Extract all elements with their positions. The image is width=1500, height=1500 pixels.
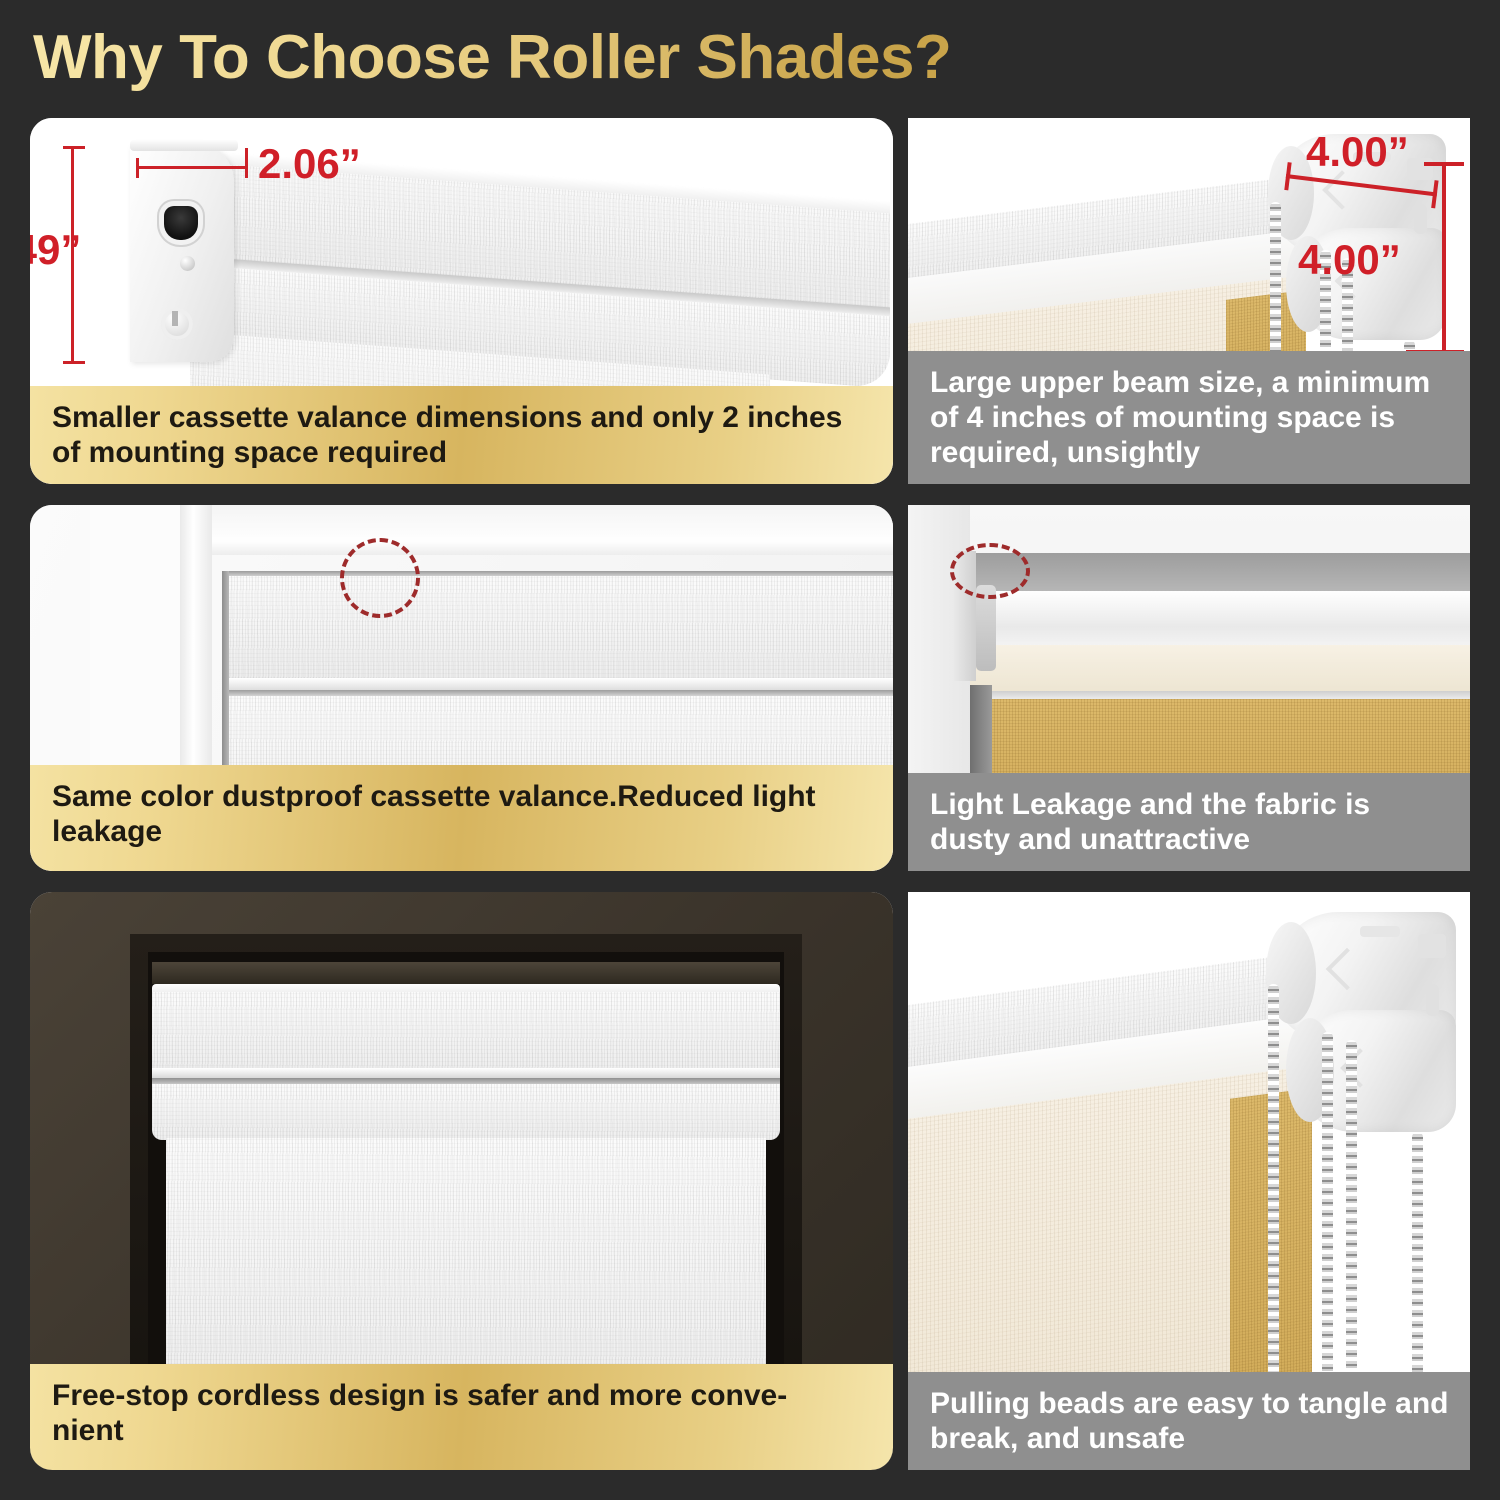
dashed-highlight-circle xyxy=(340,538,420,618)
caption-dustproof-valance: Same color dustproof cassette valance.Re… xyxy=(30,765,893,871)
panel-cassette-dimensions: 2.06” 5.49” Smaller cassette valance dim… xyxy=(30,118,893,484)
width-dimension-line xyxy=(138,166,248,169)
caption-cassette-dimensions: Smaller cassette valance dimensions and … xyxy=(30,386,893,484)
beam-height-dimension-label: 4.00” xyxy=(1298,236,1401,284)
caption-cordless-design: Free-stop cordless design is safer and m… xyxy=(30,1364,893,1470)
caption-light-leakage: Light Leakage and the fabric is dusty an… xyxy=(908,773,1470,871)
beam-height-dimension-line xyxy=(1442,162,1446,354)
panel-dustproof-valance: smaller gap Same color dustproof cassett… xyxy=(30,505,893,871)
panel-light-leakage: Large gap Light Leakage and the fabric i… xyxy=(908,505,1470,871)
dashed-highlight-circle xyxy=(950,543,1030,599)
panel-pulling-beads: Pulling beads are easy to tangle and bre… xyxy=(908,892,1470,1470)
infographic-root: Why To Choose Roller Shades? xyxy=(0,0,1500,1500)
panel-cordless-design: Free-stop cordless design is safer and m… xyxy=(30,892,893,1470)
beam-width-dimension-label: 4.00” xyxy=(1306,128,1409,176)
caption-pulling-beads: Pulling beads are easy to tangle and bre… xyxy=(908,1372,1470,1470)
width-dimension-label: 2.06” xyxy=(258,140,361,188)
beam-width-dimension-line xyxy=(1286,174,1437,196)
panel-upper-beam-size: 4.00” 4.00” Large upper beam size, a min… xyxy=(908,118,1470,484)
page-title: Why To Choose Roller Shades? xyxy=(33,22,951,93)
caption-upper-beam-size: Large upper beam size, a minimum of 4 in… xyxy=(908,351,1470,484)
height-dimension-label: 5.49” xyxy=(30,226,160,274)
